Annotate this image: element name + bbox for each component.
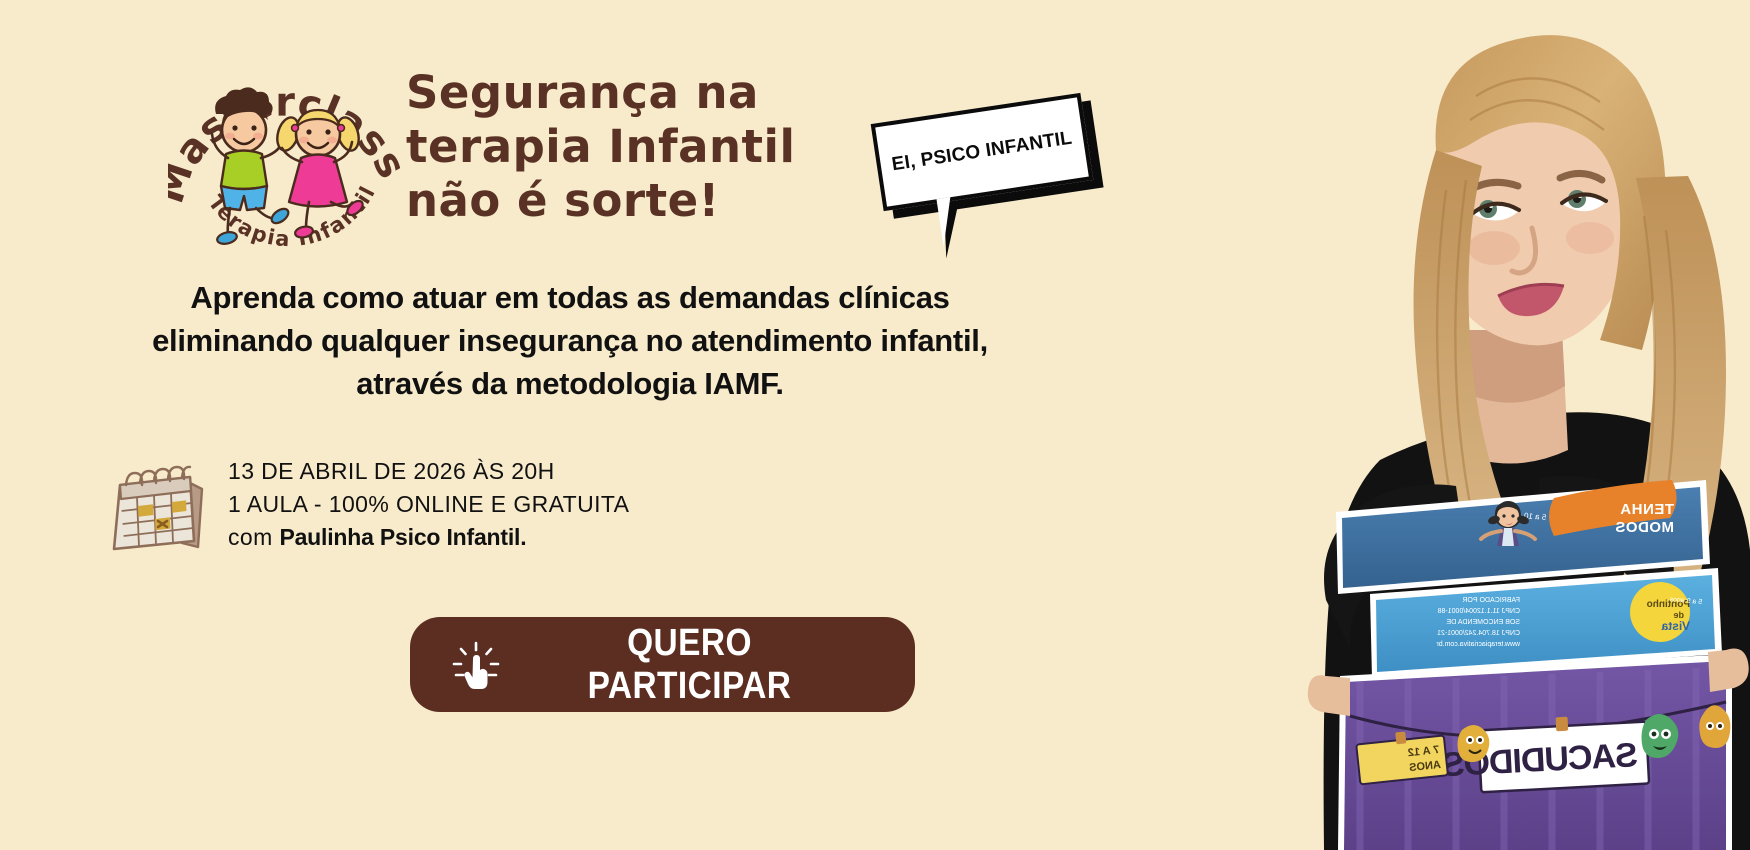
- event-host-name: Paulinha Psico Infantil.: [279, 524, 526, 550]
- svg-text:CNPJ 11.1.12004/0001-88: CNPJ 11.1.12004/0001-88: [1438, 608, 1520, 615]
- subheadline-line-3: através da metodologia IAMF.: [60, 362, 1080, 405]
- event-date-time: 13 DE ABRIL DE 2026 ÀS 20H: [228, 455, 629, 488]
- cta-label: QUERO PARTICIPAR: [526, 622, 852, 708]
- subheadline: Aprenda como atuar em todas as demandas …: [60, 276, 1080, 405]
- svg-text:TENHA: TENHA: [1620, 501, 1674, 518]
- click-hand-icon: [448, 637, 504, 693]
- svg-text:SOB ENCOMENDA DE: SOB ENCOMENDA DE: [1446, 619, 1520, 626]
- svg-text:www.terapiacriativa.com.br: www.terapiacriativa.com.br: [1436, 641, 1521, 648]
- calendar-icon: [106, 463, 210, 557]
- subheadline-line-2: eliminando qualquer insegurança no atend…: [60, 319, 1080, 362]
- headline-line-2: terapia Infantil: [406, 120, 876, 174]
- sacudidos-box: SACUDIDOS 7 A 12 ANOS: [1338, 654, 1732, 850]
- svg-text:CNPJ 18.704.242/0001-21: CNPJ 18.704.242/0001-21: [1437, 630, 1520, 637]
- subheadline-line-1: Aprenda como atuar em todas as demandas …: [60, 276, 1080, 319]
- masterclass-logo: Masterclass Terapia Infantil: [168, 42, 400, 264]
- speech-bubble: EI, PSICO INFANTIL: [871, 93, 1094, 211]
- masterclass-banner: Masterclass Terapia Infantil: [0, 0, 1750, 850]
- event-details: 13 DE ABRIL DE 2026 ÀS 20H 1 AULA - 100%…: [106, 455, 629, 557]
- event-host-prefix: com: [228, 524, 279, 550]
- woman-holding-game-boxes-photo: TENHA MODOS 5 a 10 anos: [1230, 0, 1750, 850]
- headline-line-1: Segurança na: [406, 66, 876, 120]
- event-host: com Paulinha Psico Infantil.: [228, 521, 629, 554]
- event-detail-lines: 13 DE ABRIL DE 2026 ÀS 20H 1 AULA - 100%…: [228, 455, 629, 554]
- svg-text:MODOS: MODOS: [1615, 519, 1674, 536]
- headline: Segurança na terapia Infantil não é sort…: [406, 66, 876, 228]
- svg-text:FABRICADO POR: FABRICADO POR: [1462, 597, 1520, 604]
- speech-bubble-text: EI, PSICO INFANTIL: [890, 128, 1073, 177]
- event-format: 1 AULA - 100% ONLINE E GRATUITA: [228, 488, 629, 521]
- svg-text:Vista: Vista: [1661, 619, 1690, 633]
- quero-participar-button[interactable]: QUERO PARTICIPAR: [410, 617, 915, 712]
- headline-line-3: não é sorte!: [406, 174, 876, 228]
